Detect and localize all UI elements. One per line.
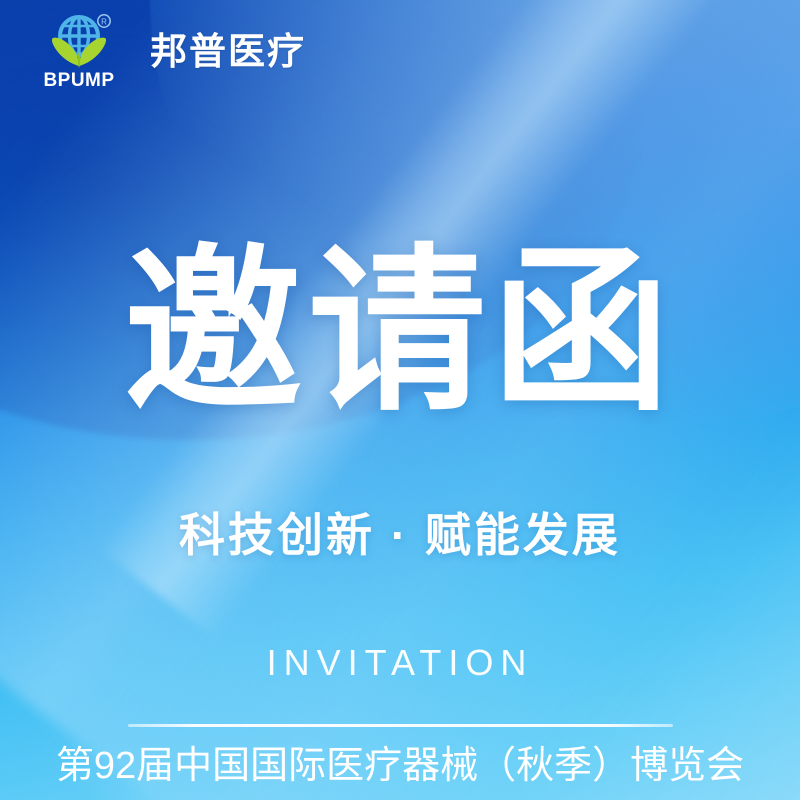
divider: [128, 724, 673, 727]
invitation-poster: R BPUMP 邦普医疗 邀请函 科技创新 · 赋能发展 INVITATION: [0, 0, 800, 800]
brand-lockup: R BPUMP 邦普医疗: [42, 12, 306, 90]
registered-mark-icon: R: [98, 15, 110, 27]
title-english: INVITATION: [0, 645, 800, 681]
event-name: 第92届中国国际医疗器械（秋季）博览会: [0, 742, 800, 791]
bpump-wordmark: BPUMP: [43, 70, 114, 90]
page-title: 邀请函: [0, 243, 800, 421]
company-name: 邦普医疗: [150, 33, 306, 70]
svg-text:R: R: [101, 17, 107, 26]
bpump-logo: R BPUMP: [42, 12, 128, 90]
page-subtitle: 科技创新 · 赋能发展: [0, 508, 800, 563]
